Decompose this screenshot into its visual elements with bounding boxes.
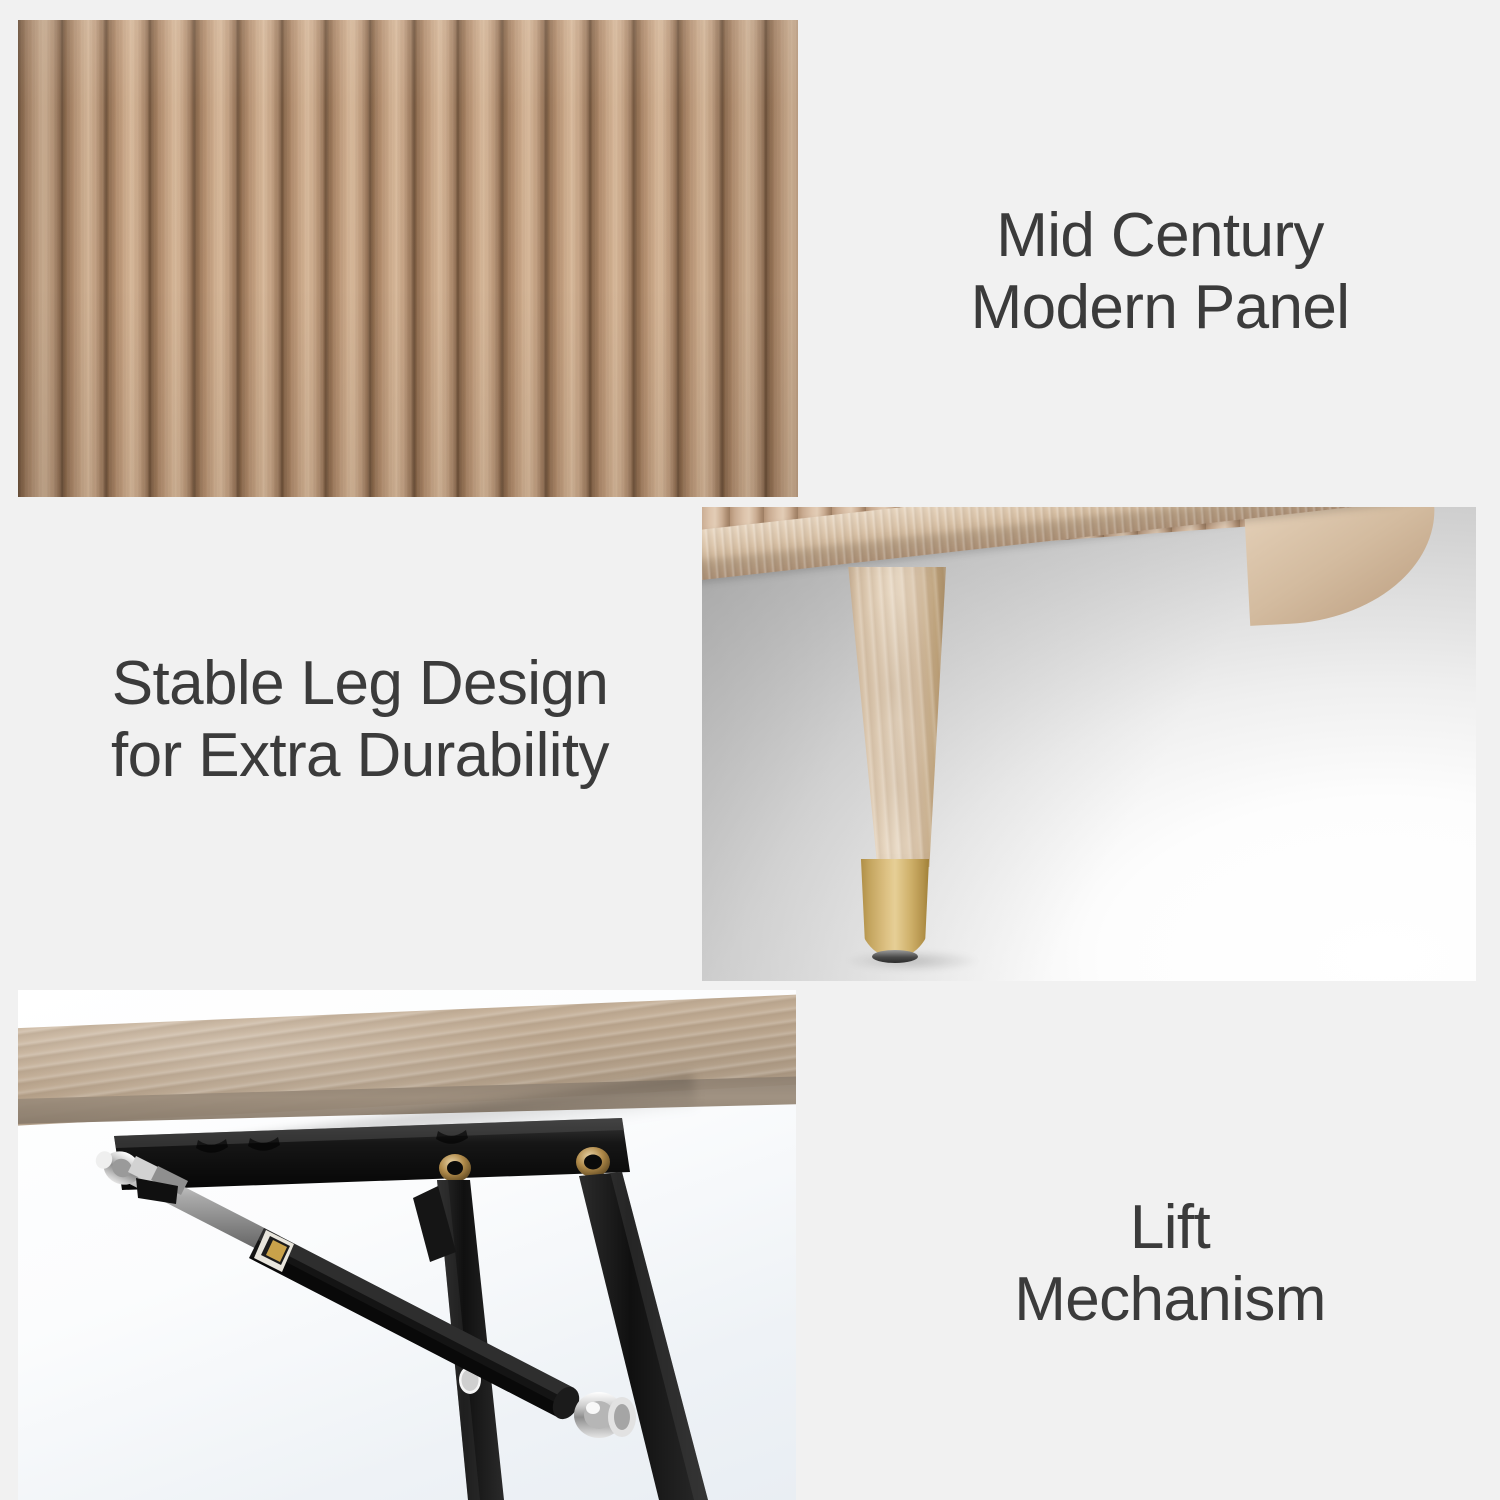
feature-caption-mid-century-modern-panel: Mid Century Modern Panel: [830, 200, 1490, 344]
outer-support-arm: [579, 1172, 708, 1500]
fluted-panel-photo: [18, 20, 798, 497]
lift-mechanism-photo: [18, 990, 796, 1500]
bracket-top-plate: [114, 1118, 630, 1190]
floor-glide: [872, 950, 918, 963]
feature-caption-lift-mechanism: Lift Mechanism: [840, 1192, 1500, 1336]
lift-hardware-assembly: [18, 990, 796, 1500]
gas-strut: [118, 1158, 584, 1424]
feature-caption-stable-leg-design: Stable Leg Design for Extra Durability: [30, 648, 690, 792]
stable-leg-photo: [702, 507, 1476, 981]
brass-leg-cap: [858, 859, 932, 957]
panel-horizontal-shading: [18, 20, 798, 497]
strut-lower-bolt: [574, 1392, 636, 1438]
infographic-stage: Mid Century Modern Panel Stable Leg Desi…: [0, 0, 1500, 1500]
